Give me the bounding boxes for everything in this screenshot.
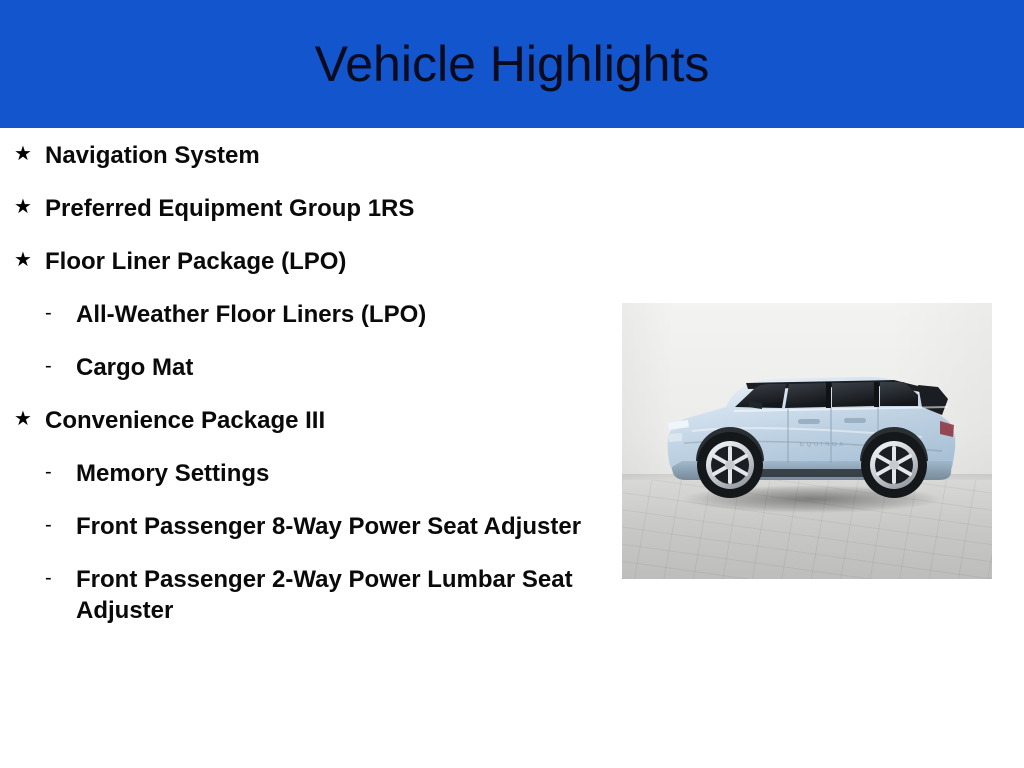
sub-list-item: - All-Weather Floor Liners (LPO) (0, 299, 600, 330)
sub-list-item-label: All-Weather Floor Liners (LPO) (76, 299, 426, 330)
svg-text:EQUINOX: EQUINOX (800, 442, 846, 448)
vehicle-photo: EQUINOX (622, 303, 992, 579)
list-item-label: Convenience Package III (45, 405, 325, 436)
sub-list-item-label: Front Passenger 2-Way Power Lumbar Seat … (76, 564, 596, 626)
list-item: ★ Navigation System (0, 140, 600, 171)
sub-list-item: - Front Passenger 2-Way Power Lumbar Sea… (0, 564, 600, 626)
dash-bullet-icon: - (45, 564, 76, 592)
dash-bullet-icon: - (45, 352, 76, 380)
page-title: Vehicle Highlights (315, 39, 710, 89)
star-bullet-icon: ★ (14, 193, 45, 221)
list-item-label: Navigation System (45, 140, 260, 171)
dash-bullet-icon: - (45, 458, 76, 486)
list-item-label: Floor Liner Package (LPO) (45, 246, 346, 277)
vehicle-highlights-list: ★ Navigation System ★ Preferred Equipmen… (0, 140, 600, 648)
sub-list-item-label: Memory Settings (76, 458, 269, 489)
sub-list-item: - Cargo Mat (0, 352, 600, 383)
star-bullet-icon: ★ (14, 246, 45, 274)
sub-list-item: - Memory Settings (0, 458, 600, 489)
suv-side-profile-icon: EQUINOX (622, 303, 992, 579)
sub-list-item-label: Front Passenger 8-Way Power Seat Adjuste… (76, 511, 581, 542)
slide-content: ★ Navigation System ★ Preferred Equipmen… (0, 128, 1024, 768)
sub-list-item: - Front Passenger 8-Way Power Seat Adjus… (0, 511, 600, 542)
list-item: ★ Preferred Equipment Group 1RS (0, 193, 600, 224)
dash-bullet-icon: - (45, 511, 76, 539)
list-item: ★ Floor Liner Package (LPO) (0, 246, 600, 277)
star-bullet-icon: ★ (14, 140, 45, 168)
list-item-label: Preferred Equipment Group 1RS (45, 193, 414, 224)
star-bullet-icon: ★ (14, 405, 45, 433)
dash-bullet-icon: - (45, 299, 76, 327)
header-banner: Vehicle Highlights (0, 0, 1024, 128)
sub-list-item-label: Cargo Mat (76, 352, 193, 383)
list-item: ★ Convenience Package III (0, 405, 600, 436)
